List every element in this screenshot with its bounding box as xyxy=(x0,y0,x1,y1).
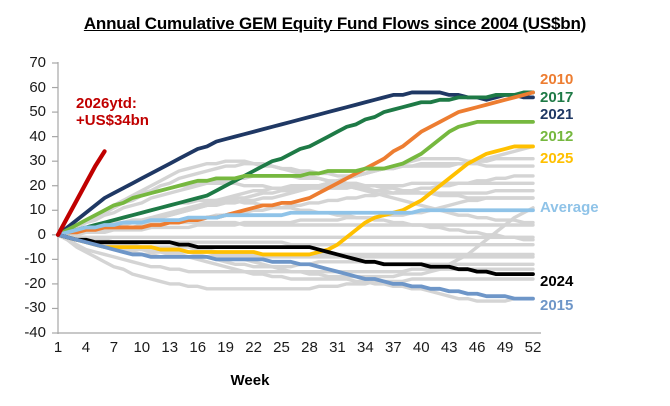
y-axis-tick-label: 20 xyxy=(10,178,46,193)
y-axis-tick-label: -20 xyxy=(10,276,46,291)
x-axis-tick-label: 31 xyxy=(323,340,351,355)
x-axis-tick-label: 40 xyxy=(407,340,435,355)
series-label-2017: 2017 xyxy=(540,89,573,106)
y-axis-tick-label: 0 xyxy=(10,227,46,242)
series-label-2012: 2012 xyxy=(540,128,573,145)
x-axis-tick-label: 22 xyxy=(240,340,268,355)
x-axis-title: Week xyxy=(0,372,500,389)
series-label-2021: 2021 xyxy=(540,106,573,123)
series-label-2010: 2010 xyxy=(540,71,573,88)
chart-line-other-6 xyxy=(58,235,533,237)
series-label-2025: 2025 xyxy=(540,150,573,167)
x-axis-tick-label: 1 xyxy=(44,340,72,355)
x-axis-tick-label: 16 xyxy=(184,340,212,355)
annotation-2026ytd: 2026ytd: +US$34bn xyxy=(76,96,149,130)
annotation-line-2: +US$34bn xyxy=(76,113,149,130)
annotation-line-1: 2026ytd: xyxy=(76,96,149,113)
x-axis-tick-label: 19 xyxy=(212,340,240,355)
y-axis-tick-label: 40 xyxy=(10,129,46,144)
series-label-2015: 2015 xyxy=(540,297,573,314)
x-axis-tick-label: 7 xyxy=(100,340,128,355)
y-axis-tick-label: 50 xyxy=(10,104,46,119)
y-axis-tick-label: 10 xyxy=(10,202,46,217)
x-axis-tick-label: 46 xyxy=(463,340,491,355)
x-axis-tick-label: 34 xyxy=(351,340,379,355)
y-axis-tick-label: 70 xyxy=(10,55,46,70)
x-axis-tick-label: 25 xyxy=(268,340,296,355)
y-axis-tick-label: -10 xyxy=(10,251,46,266)
x-axis-tick-label: 52 xyxy=(519,340,547,355)
y-axis-tick-label: -30 xyxy=(10,300,46,315)
x-axis-tick-label: 13 xyxy=(156,340,184,355)
series-label-average: Average xyxy=(540,199,599,216)
y-axis-tick-label: -40 xyxy=(10,325,46,340)
x-axis-tick-label: 28 xyxy=(295,340,323,355)
y-axis-tick-label: 60 xyxy=(10,80,46,95)
chart-container: Annual Cumulative GEM Equity Fund Flows … xyxy=(0,0,670,406)
x-axis-tick-label: 49 xyxy=(491,340,519,355)
y-axis-tick-label: 30 xyxy=(10,153,46,168)
series-label-2024: 2024 xyxy=(540,273,573,290)
x-axis-tick-label: 4 xyxy=(72,340,100,355)
x-axis-tick-label: 43 xyxy=(435,340,463,355)
x-axis-tick-label: 37 xyxy=(379,340,407,355)
x-axis-tick-label: 10 xyxy=(128,340,156,355)
